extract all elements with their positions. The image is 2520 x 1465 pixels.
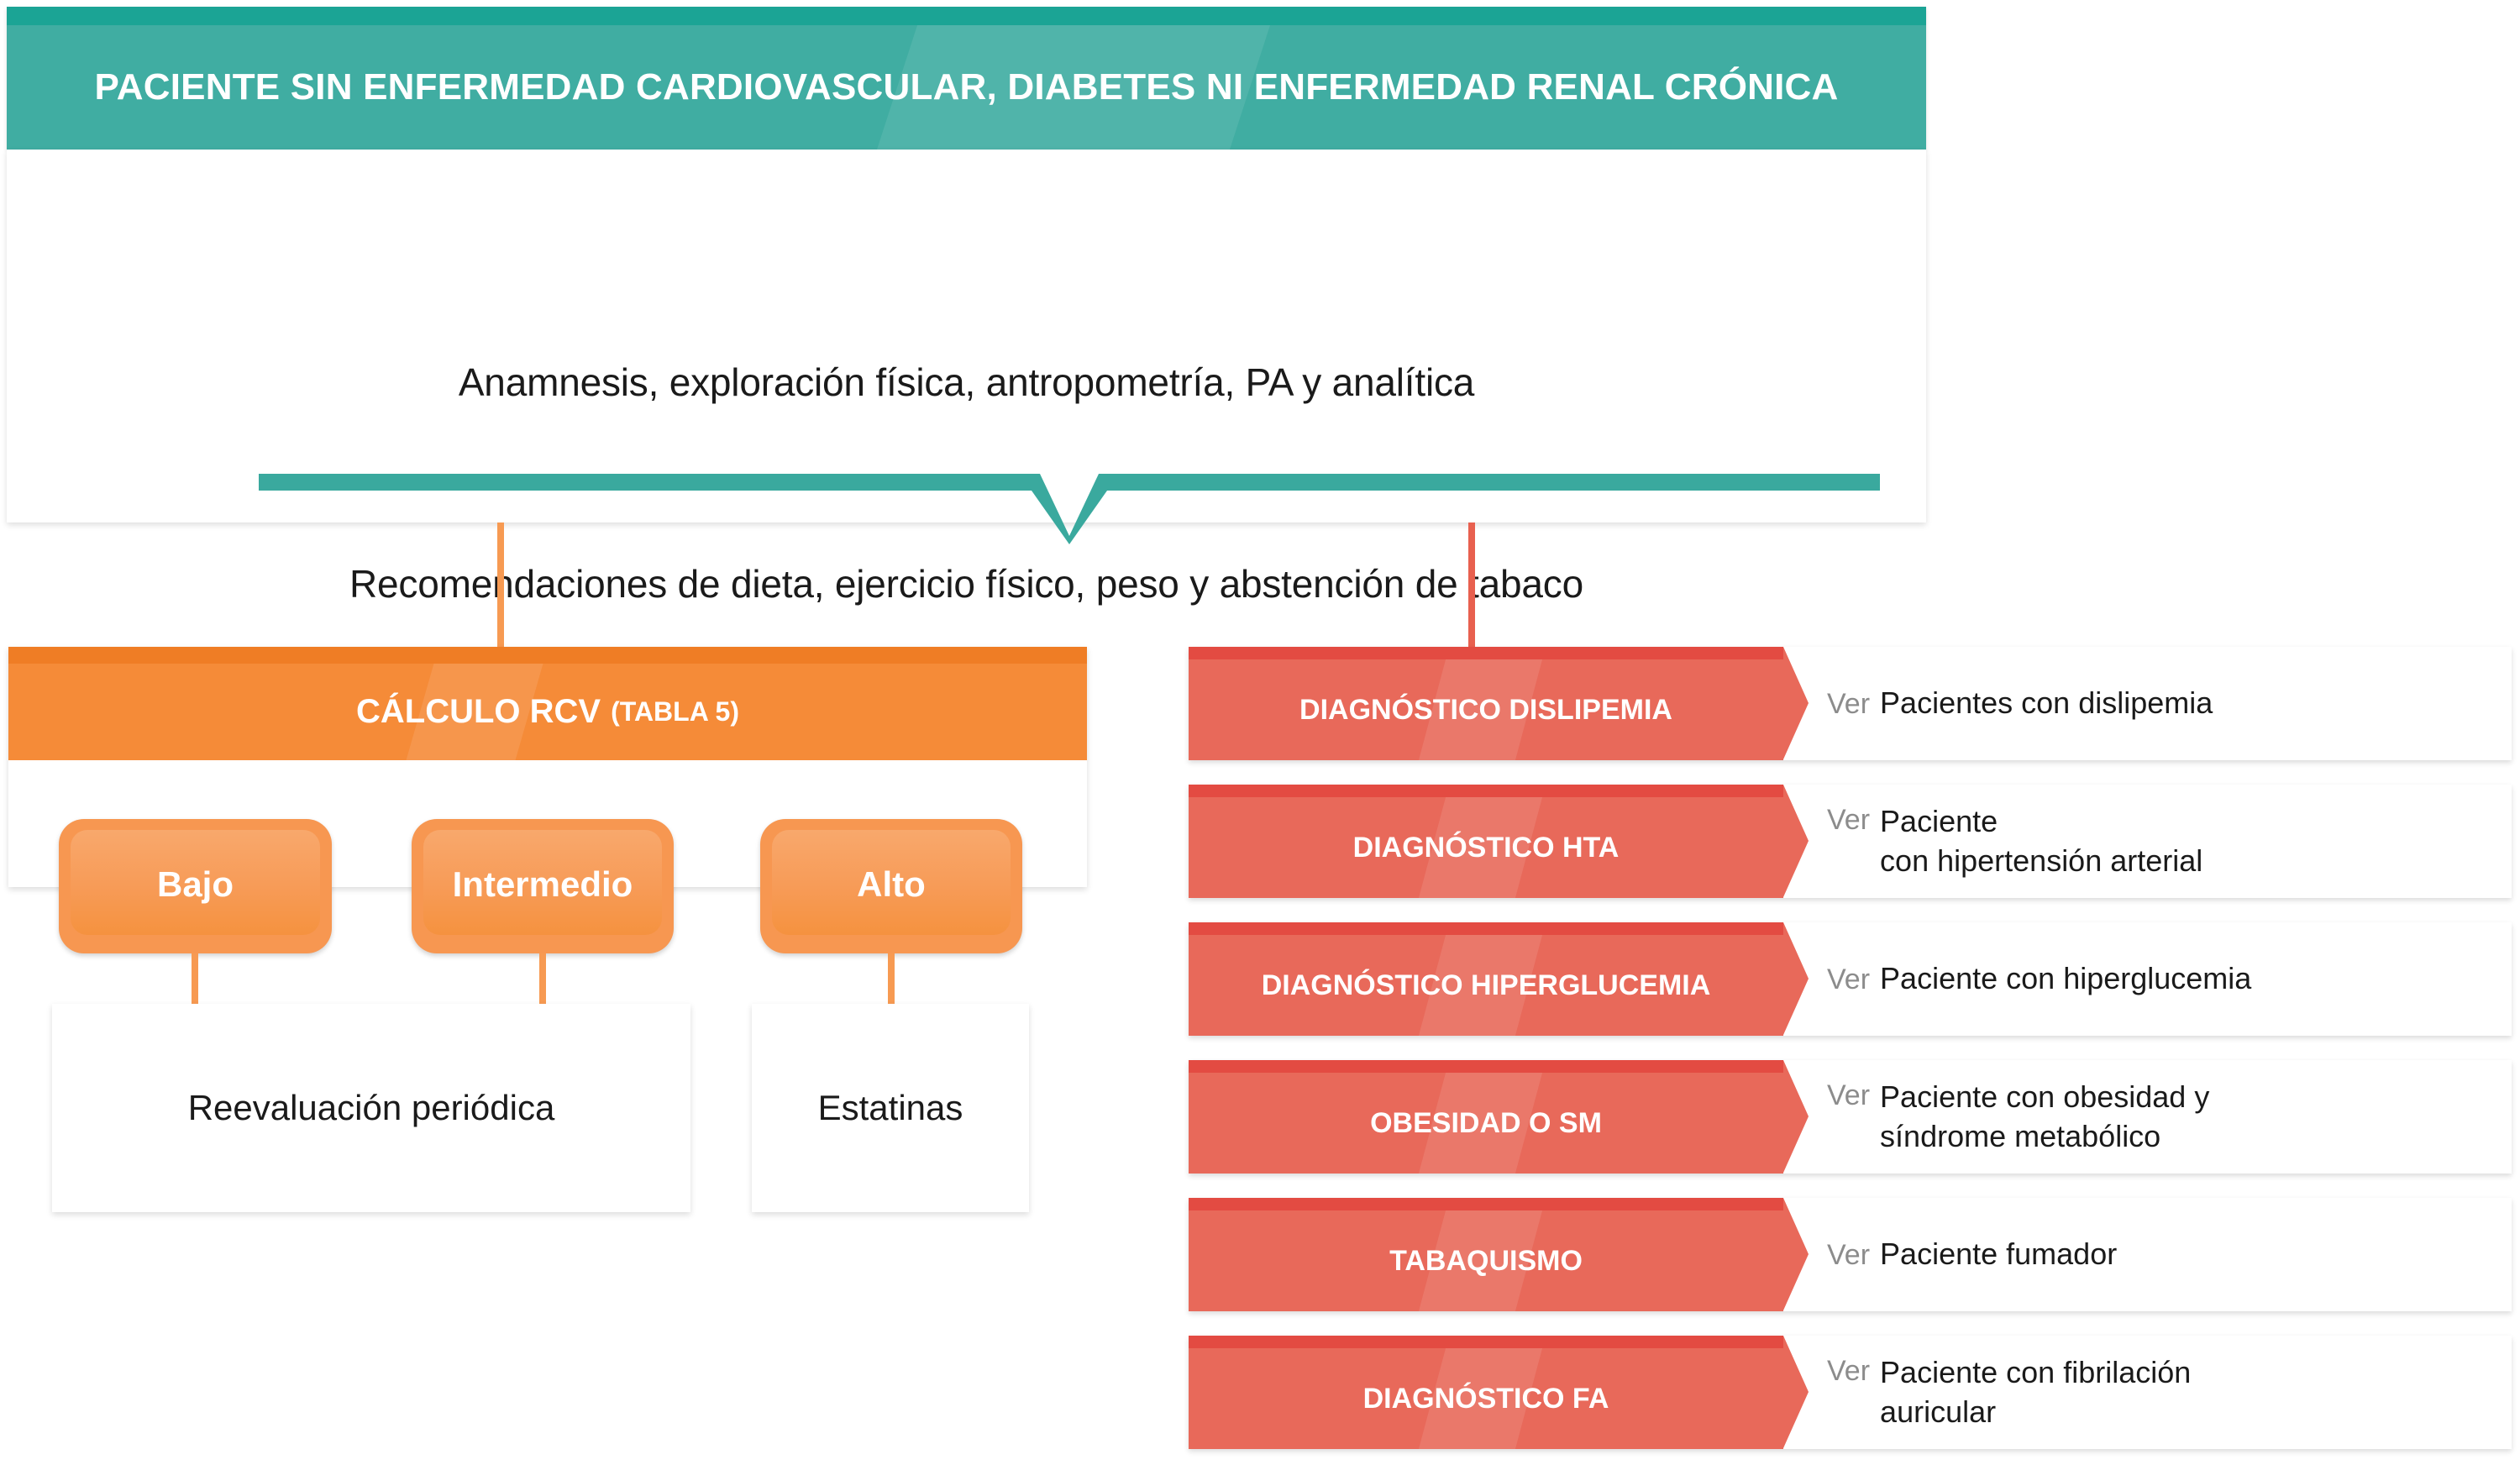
banner-top-strip — [7, 7, 1926, 25]
diagnosis-desc-text: Pacientes con dislipemia — [1880, 684, 2213, 722]
diagnosis-tag[interactable]: DIAGNÓSTICO HTA — [1189, 785, 1806, 898]
diagnosis-tag-top-strip — [1189, 922, 1783, 935]
diagnosis-desc-text: Paciente fumador — [1880, 1235, 2117, 1273]
outcome-label: Reevaluación periódica — [188, 1088, 555, 1128]
diagnosis-row[interactable]: DIAGNÓSTICO DISLIPEMIAVerPacientes con d… — [1189, 647, 2512, 760]
risk-button-face: Alto — [772, 830, 1011, 935]
ver-label[interactable]: Ver — [1827, 686, 1870, 723]
diagnosis-desc-text: Paciente con hiperglucemia — [1880, 959, 2251, 998]
risk-button-alto[interactable]: Alto — [760, 819, 1022, 953]
diagnosis-arrow-icon — [1783, 785, 1809, 897]
anamnesis-line: Anamnesis, exploración física, antropome… — [7, 360, 1926, 405]
diagnosis-desc-line: auricular — [1880, 1393, 2191, 1431]
rcv-header-top-strip — [8, 647, 1087, 664]
connector-to-rcv — [497, 522, 504, 648]
diagnosis-description: VerPacientes con dislipemia — [1827, 647, 2495, 760]
connector-intermedio-to-outcome — [539, 953, 546, 1004]
diagnosis-desc-text: Pacientecon hipertensión arterial — [1880, 802, 2202, 880]
risk-button-intermedio[interactable]: Intermedio — [412, 819, 674, 953]
diagnosis-desc-text: Paciente con fibrilaciónauricular — [1880, 1353, 2191, 1431]
connector-bajo-to-outcome — [192, 953, 198, 1004]
diagnosis-tag-label: TABAQUISMO — [1189, 1210, 1783, 1311]
recommendations-line: Recomendaciones de dieta, ejercicio físi… — [7, 561, 1926, 606]
diagnosis-tag[interactable]: DIAGNÓSTICO HIPERGLUCEMIA — [1189, 922, 1806, 1036]
diagnosis-desc-line: Paciente — [1880, 802, 2202, 841]
diagnosis-tag-top-strip — [1189, 647, 1783, 659]
diagnosis-desc-line: con hipertensión arterial — [1880, 842, 2202, 880]
diagnosis-arrow-icon — [1783, 1198, 1809, 1310]
diagnosis-tag-label: DIAGNÓSTICO HIPERGLUCEMIA — [1189, 935, 1783, 1036]
diagnosis-arrow-icon — [1783, 1336, 1809, 1448]
diagnosis-row[interactable]: TABAQUISMOVerPaciente fumador — [1189, 1198, 2512, 1311]
diagnosis-tag[interactable]: TABAQUISMO — [1189, 1198, 1806, 1311]
diagnosis-tag-label: OBESIDAD O SM — [1189, 1073, 1783, 1174]
connector-to-diagnoses — [1468, 522, 1475, 648]
diagnosis-description: VerPaciente con obesidad ysíndrome metab… — [1827, 1060, 2495, 1174]
diagnosis-arrow-icon — [1783, 922, 1809, 1035]
risk-button-bajo[interactable]: Bajo — [59, 819, 332, 953]
diagnosis-description: VerPaciente con hiperglucemia — [1827, 922, 2495, 1036]
main-assessment-card: Anamnesis, exploración física, antropome… — [7, 150, 1926, 522]
diagnosis-desc-line: Paciente con fibrilación — [1880, 1353, 2191, 1392]
ver-label[interactable]: Ver — [1827, 1078, 1870, 1115]
outcome-box-estatinas: Estatinas — [752, 1004, 1029, 1212]
diagnosis-description: VerPacientecon hipertensión arterial — [1827, 785, 2495, 898]
diagnosis-row[interactable]: DIAGNÓSTICO HTAVerPacientecon hipertensi… — [1189, 785, 2512, 898]
ver-label[interactable]: Ver — [1827, 1237, 1870, 1274]
diagnosis-arrow-icon — [1783, 1060, 1809, 1173]
rcv-header: CÁLCULO RCV (TABLA 5) — [8, 647, 1087, 760]
risk-button-face: Intermedio — [423, 830, 662, 935]
diagnosis-tag[interactable]: OBESIDAD O SM — [1189, 1060, 1806, 1174]
diagnosis-tag-top-strip — [1189, 1060, 1783, 1073]
diagnosis-desc-line: Paciente fumador — [1880, 1235, 2117, 1273]
connector-alto-to-outcome — [888, 953, 895, 1004]
diagnosis-desc-line: Pacientes con dislipemia — [1880, 684, 2213, 722]
outcome-label: Estatinas — [818, 1088, 963, 1128]
diagnosis-row[interactable]: DIAGNÓSTICO FAVerPaciente con fibrilació… — [1189, 1336, 2512, 1449]
diagnosis-description: VerPaciente fumador — [1827, 1198, 2495, 1311]
ver-label[interactable]: Ver — [1827, 1353, 1870, 1390]
ver-label[interactable]: Ver — [1827, 962, 1870, 999]
diagnosis-tag-label: DIAGNÓSTICO FA — [1189, 1348, 1783, 1449]
risk-button-face: Bajo — [71, 830, 320, 935]
rcv-header-note: (TABLA 5) — [611, 696, 739, 727]
diagnosis-row[interactable]: OBESIDAD O SMVerPaciente con obesidad ys… — [1189, 1060, 2512, 1174]
diagnosis-tag-top-strip — [1189, 785, 1783, 797]
ver-label[interactable]: Ver — [1827, 802, 1870, 839]
diagnosis-desc-line: Paciente con obesidad y — [1880, 1078, 2209, 1116]
diagnosis-description: VerPaciente con fibrilaciónauricular — [1827, 1336, 2495, 1449]
risk-label: Intermedio — [453, 864, 633, 905]
risk-label: Alto — [857, 864, 926, 905]
diagnosis-tag-label: DIAGNÓSTICO HTA — [1189, 797, 1783, 898]
diagnosis-desc-text: Paciente con obesidad ysíndrome metabóli… — [1880, 1078, 2209, 1155]
outcome-box-reevaluacion: Reevaluación periódica — [52, 1004, 690, 1212]
diagnosis-desc-line: Paciente con hiperglucemia — [1880, 959, 2251, 998]
diagnosis-tag-top-strip — [1189, 1336, 1783, 1348]
diagnosis-tag-top-strip — [1189, 1198, 1783, 1210]
diagnosis-arrow-icon — [1783, 647, 1809, 759]
risk-label: Bajo — [157, 864, 234, 905]
diagnosis-tag[interactable]: DIAGNÓSTICO FA — [1189, 1336, 1806, 1449]
rcv-header-title: CÁLCULO RCV — [356, 693, 601, 731]
diagnosis-tag-label: DIAGNÓSTICO DISLIPEMIA — [1189, 659, 1783, 760]
banner-title: PACIENTE SIN ENFERMEDAD CARDIOVASCULAR, … — [7, 25, 1926, 150]
diagnosis-desc-line: síndrome metabólico — [1880, 1117, 2209, 1156]
diagnosis-tag[interactable]: DIAGNÓSTICO DISLIPEMIA — [1189, 647, 1806, 760]
rcv-header-label: CÁLCULO RCV (TABLA 5) — [8, 664, 1087, 760]
top-banner: PACIENTE SIN ENFERMEDAD CARDIOVASCULAR, … — [7, 7, 1926, 150]
diagnosis-row[interactable]: DIAGNÓSTICO HIPERGLUCEMIAVerPaciente con… — [1189, 922, 2512, 1036]
